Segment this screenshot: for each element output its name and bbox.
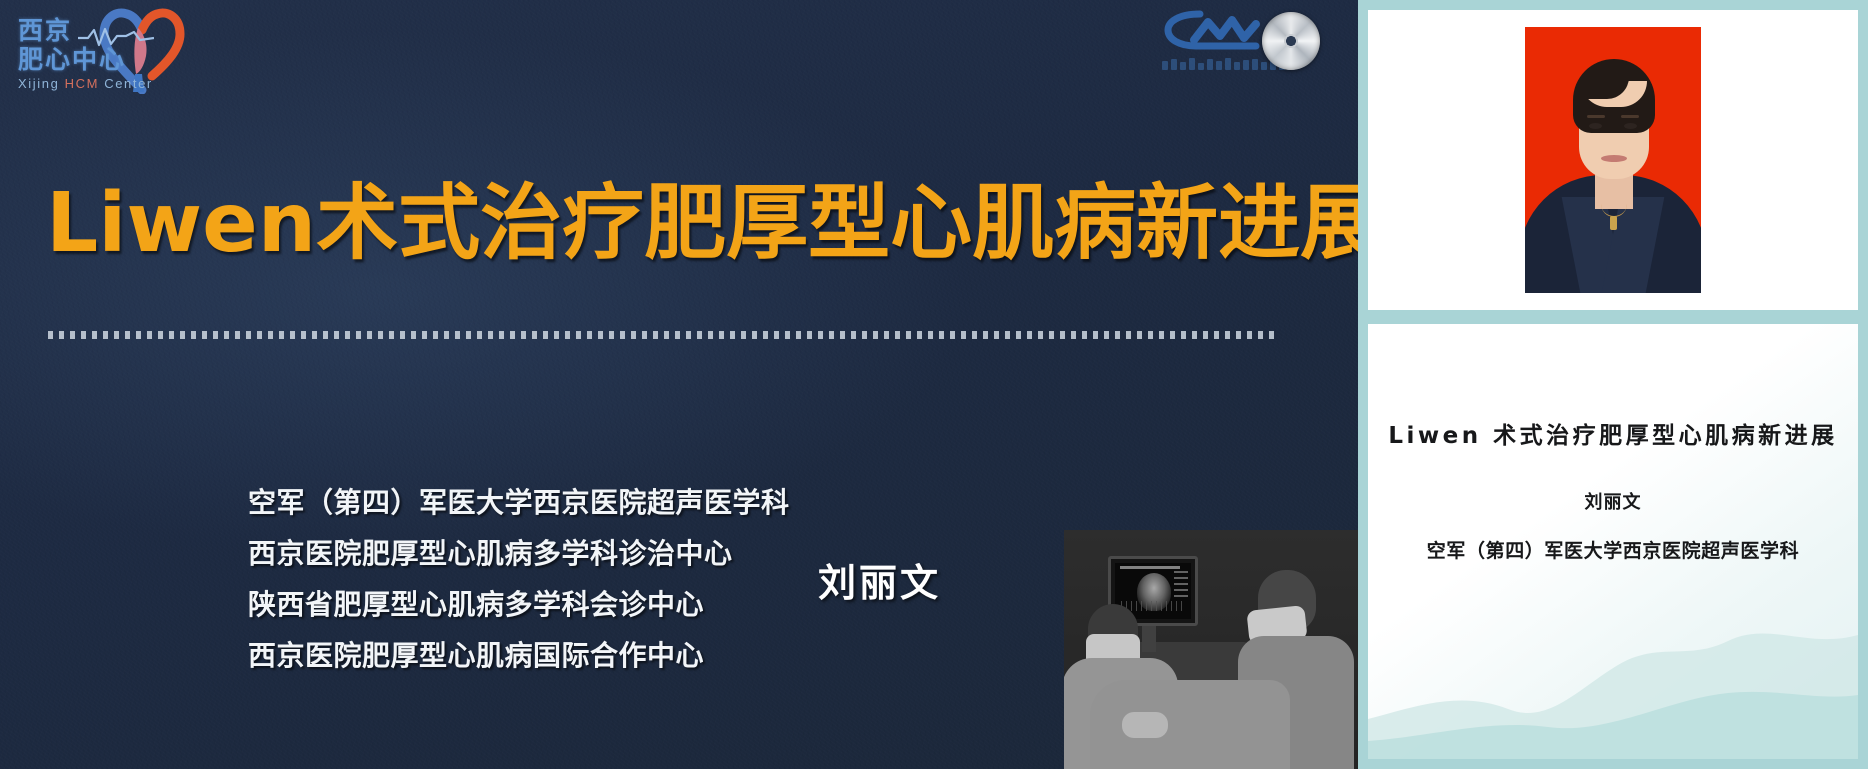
card-affiliation: 空军（第四）军医大学西京医院超声医学科 (1368, 536, 1858, 563)
right-panel: Liwen 术式治疗肥厚型心肌病新进展 刘丽文 空军（第四）军医大学西京医院超声… (1358, 0, 1868, 769)
affiliation-line: 西京医院肥厚型心肌病多学科诊治中心 (248, 528, 790, 579)
presentation-viewer: 西京 肥心中心 Xijing HCM Center Liwen术式治疗肥厚型心肌… (0, 0, 1868, 769)
portrait-card (1368, 10, 1858, 310)
affiliation-list: 空军（第四）军医大学西京医院超声医学科 西京医院肥厚型心肌病多学科诊治中心 陕西… (248, 477, 790, 681)
logo-en-line: Xijing HCM Center (18, 76, 153, 91)
operating-room-photo (1064, 530, 1358, 769)
logo-text-block: 西京 肥心中心 Xijing HCM Center (18, 16, 153, 91)
mountain-wave-decoration (1368, 569, 1858, 759)
xijing-hcm-logo: 西京 肥心中心 Xijing HCM Center (12, 4, 198, 100)
logo-cn-line2: 肥心中心 (18, 45, 153, 74)
card-title: Liwen 术式治疗肥厚型心肌病新进展 (1368, 416, 1858, 450)
affiliation-line: 空军（第四）军医大学西京医院超声医学科 (248, 477, 790, 528)
cma-logo (1160, 6, 1330, 84)
slide-title: Liwen术式治疗肥厚型心肌病新进展 (46, 176, 1316, 272)
logo-en-prefix: Xijing (18, 76, 65, 91)
slide-canvas[interactable]: 西京 肥心中心 Xijing HCM Center Liwen术式治疗肥厚型心肌… (0, 0, 1358, 769)
logo-en-suffix: Center (99, 76, 153, 91)
presenter-name: 刘丽文 (818, 552, 941, 607)
logo-en-accent: HCM (65, 76, 99, 91)
dotted-divider (48, 331, 1280, 339)
info-card: Liwen 术式治疗肥厚型心肌病新进展 刘丽文 空军（第四）军医大学西京医院超声… (1368, 324, 1858, 759)
cd-disc-icon (1262, 12, 1320, 70)
affiliation-line: 西京医院肥厚型心肌病国际合作中心 (248, 630, 790, 681)
avatar (1525, 27, 1701, 293)
affiliation-line: 陕西省肥厚型心肌病多学科会诊中心 (248, 579, 790, 630)
card-presenter-name: 刘丽文 (1368, 488, 1858, 514)
logo-cn-line1: 西京 (18, 16, 153, 45)
